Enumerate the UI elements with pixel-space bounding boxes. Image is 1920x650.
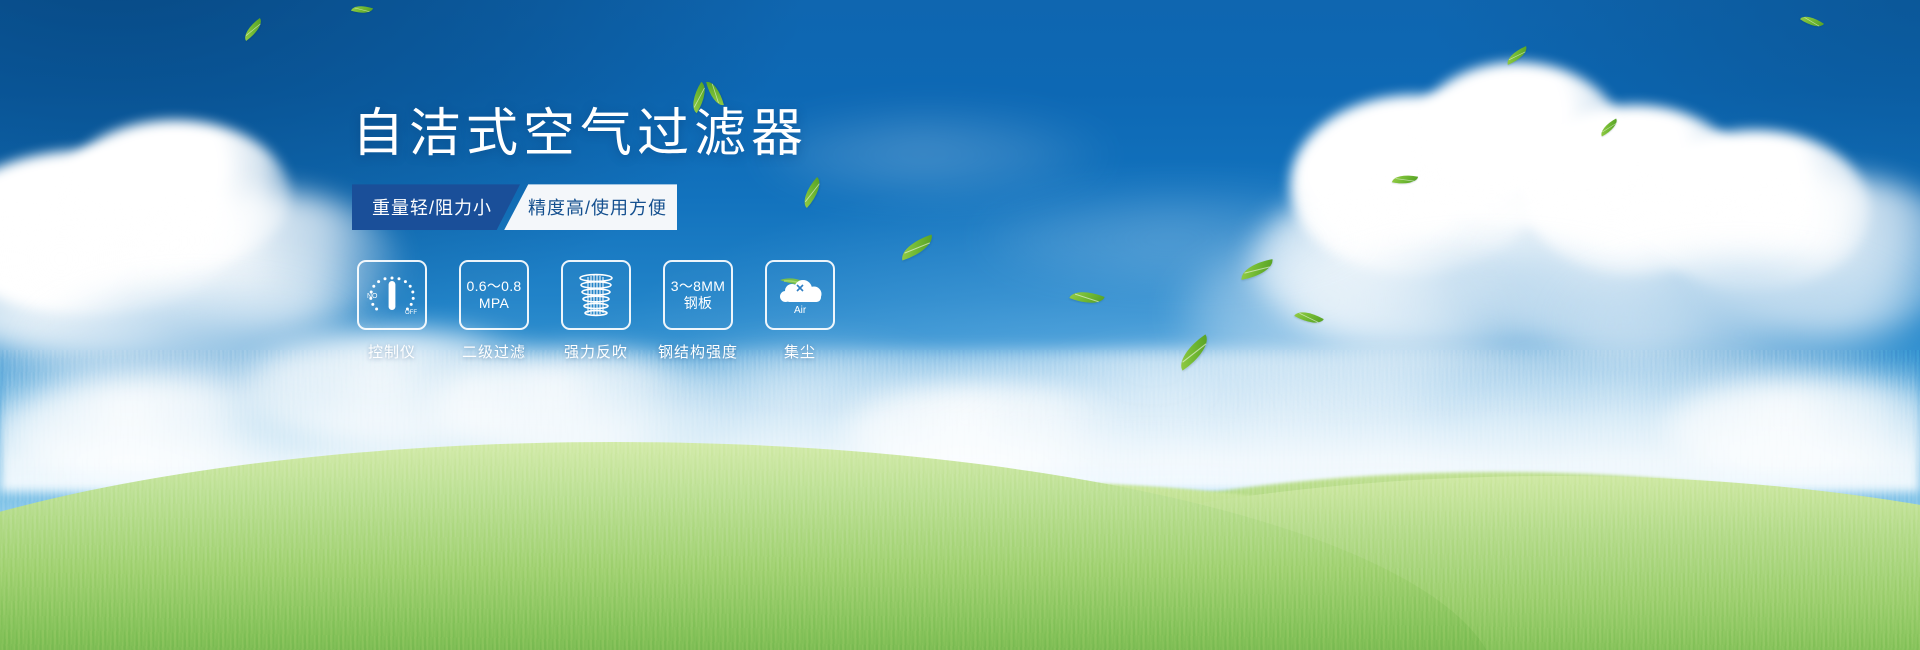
feature-item-pressure[interactable]: 0.6～0.8 MPA 二级过滤 [454,260,534,362]
cloud-air-icon: Air [772,274,828,316]
pressure-unit-text: MPA [479,295,509,313]
feature-item-backblow[interactable]: 强力反吹 [556,260,636,362]
tagline-badges: 重量轻/阻力小 精度高/使用方便 [352,184,677,230]
badge-secondary[interactable]: 精度高/使用方便 [504,184,677,230]
page-title: 自洁式空气过滤器 [352,104,1052,165]
cloud-air-label: Air [794,305,807,316]
gauge-no-label: NO [367,293,378,300]
feature-icon-row: NO OFF 控制仪 0.6～0.8 MPA 二级过滤 [352,260,1052,362]
feature-box-pressure: 0.6～0.8 MPA [459,260,529,330]
feature-box-steel: 3～8MM 钢板 [663,260,733,330]
feature-box-controller: NO OFF [357,260,427,330]
badge-secondary-label: 精度高/使用方便 [528,194,667,220]
badge-primary[interactable]: 重量轻/阻力小 [352,184,520,230]
product-hero-banner: 自洁式空气过滤器 重量轻/阻力小 精度高/使用方便 [0,0,1920,650]
feature-item-dust[interactable]: Air 集尘 [760,260,840,362]
gauge-dial-icon: NO OFF [365,272,419,318]
steel-thickness-text: 3～8MM [671,278,725,296]
feature-item-controller[interactable]: NO OFF 控制仪 [352,260,432,362]
badge-primary-label: 重量轻/阻力小 [372,194,492,220]
feature-caption-dust: 集尘 [784,341,816,362]
steel-material-text: 钢板 [684,295,713,313]
filter-cartridge-icon [573,271,619,319]
feature-caption-backblow: 强力反吹 [564,341,628,362]
feature-box-backblow [561,260,631,330]
feature-caption-pressure: 二级过滤 [462,341,526,362]
banner-content: 自洁式空气过滤器 重量轻/阻力小 精度高/使用方便 [352,104,1052,362]
pressure-value-text: 0.6～0.8 [466,278,521,296]
feature-caption-steel: 钢结构强度 [658,341,738,362]
feature-box-dust: Air [765,260,835,330]
grass-field [0,350,1920,650]
feature-caption-controller: 控制仪 [368,341,416,362]
gauge-off-label: OFF [405,310,417,316]
feature-item-steel[interactable]: 3～8MM 钢板 钢结构强度 [658,260,738,362]
